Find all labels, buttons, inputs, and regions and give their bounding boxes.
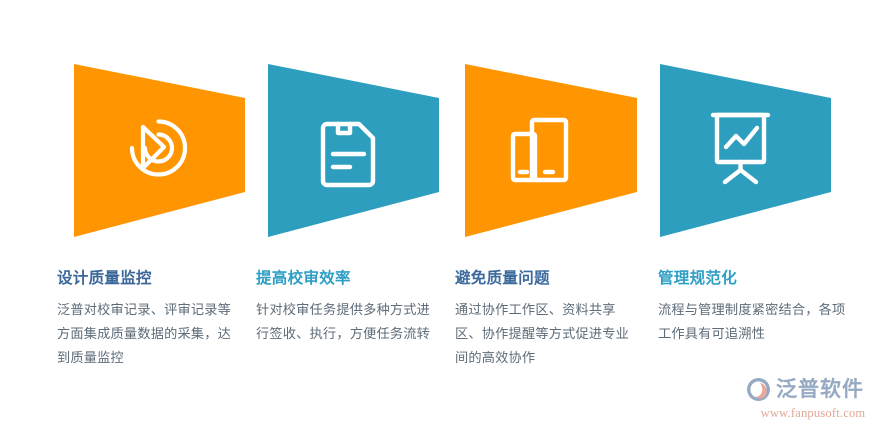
feature-banner-graphic: 设计质量监控 泛普对校审记录、评审记录等方面集成质量数据的采集，达到质量监控 提… [0,0,884,433]
save-floppy-disk-icon [323,124,373,185]
feature-description-2: 针对校审任务提供多种方式进行签收、执行，方便任务流转 [256,298,434,347]
presentation-chart-icon [713,115,768,182]
banner-shape-3 [465,64,637,237]
target-arrow-icon [132,122,185,175]
feature-column-4: 管理规范化 流程与管理制度紧密结合，各项工作具有可追溯性 [658,270,848,346]
feature-column-3: 避免质量问题 通过协作工作区、资料共享区、协作提醒等方式促进专业间的高效协作 [455,270,633,371]
feature-title-3: 避免质量问题 [455,270,633,289]
feature-title-4: 管理规范化 [658,270,848,289]
watermark-brand-text: 泛普软件 [776,379,864,400]
feature-description-1: 泛普对校审记录、评审记录等方面集成质量数据的采集，达到质量监控 [57,298,235,371]
feature-title-1: 设计质量监控 [57,270,235,289]
fanpu-leaf-logo-icon [745,376,772,403]
feature-column-2: 提高校审效率 针对校审任务提供多种方式进行签收、执行，方便任务流转 [256,270,434,346]
banner-shape-4 [660,64,831,237]
banner-shape-1 [74,64,245,237]
banner-shape-2 [268,64,439,237]
devices-tablet-phone-icon [513,120,566,180]
watermark-brand-row: 泛普软件 [745,376,881,403]
feature-title-2: 提高校审效率 [256,270,434,289]
watermark: 泛普软件 www.fanpusoft.com [745,376,881,426]
feature-description-3: 通过协作工作区、资料共享区、协作提醒等方式促进专业间的高效协作 [455,298,633,371]
watermark-url-text: www.fanpusoft.com [745,406,881,421]
feature-description-4: 流程与管理制度紧密结合，各项工作具有可追溯性 [658,298,848,347]
feature-column-1: 设计质量监控 泛普对校审记录、评审记录等方面集成质量数据的采集，达到质量监控 [57,270,235,371]
